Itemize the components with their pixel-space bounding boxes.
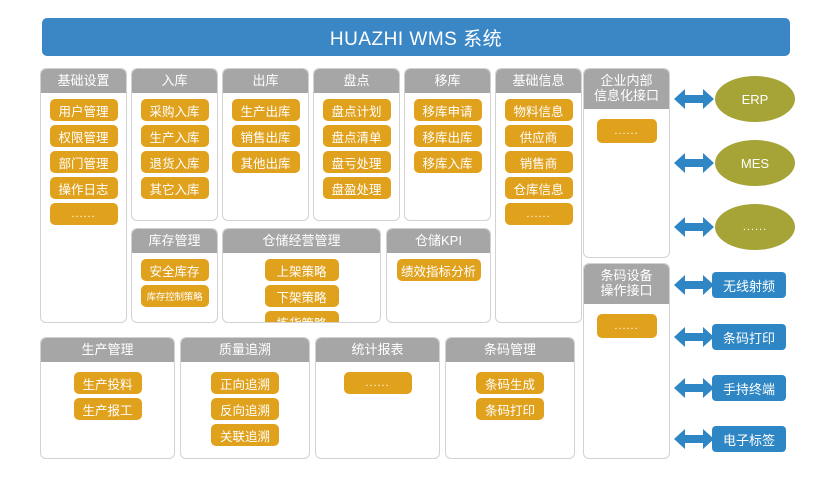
card-title: 库存管理: [148, 234, 200, 249]
menu-item[interactable]: 其他出库: [232, 151, 300, 173]
card-body: 上架策略 下架策略 拣货策略 批次管理: [223, 253, 380, 323]
menu-item[interactable]: 生产报工: [74, 398, 142, 420]
card-title: 条码管理: [484, 343, 536, 358]
interface-card-enterprise-it[interactable]: 企业内部 信息化接口 ......: [583, 68, 670, 258]
card-title-line1: 条码设备: [600, 269, 652, 284]
card-header: 统计报表: [316, 338, 439, 362]
card-body: 物料信息 供应商 销售商 仓库信息 ......: [496, 93, 581, 225]
module-card-inbound[interactable]: 入库 采购入库 生产入库 退货入库 其它入库: [131, 68, 218, 221]
card-body: 采购入库 生产入库 退货入库 其它入库: [132, 93, 217, 199]
endpoint-handheld-terminal[interactable]: 手持终端: [712, 375, 786, 401]
double-arrow-icon: [674, 88, 714, 115]
endpoint-rfid[interactable]: 无线射频: [712, 272, 786, 298]
interface-card-barcode-device[interactable]: 条码设备 操作接口 ......: [583, 263, 670, 459]
card-body: 正向追溯 反向追溯 关联追溯: [181, 362, 309, 446]
card-title-line1: 企业内部: [600, 74, 652, 89]
double-arrow-icon: [674, 326, 714, 353]
card-title-line2: 信息化接口: [594, 89, 659, 104]
module-card-warehouse-operations[interactable]: 仓储经营管理 上架策略 下架策略 拣货策略 批次管理: [222, 228, 381, 323]
menu-item[interactable]: 供应商: [505, 125, 573, 147]
card-body: 用户管理 权限管理 部门管理 操作日志 ......: [41, 93, 126, 225]
menu-item[interactable]: 移库出库: [414, 125, 482, 147]
module-card-transfer[interactable]: 移库 移库申请 移库出库 移库入库: [404, 68, 491, 221]
endpoint-label: ......: [743, 221, 767, 233]
module-card-basic-info[interactable]: 基础信息 物料信息 供应商 销售商 仓库信息 ......: [495, 68, 582, 323]
double-arrow-icon: [674, 152, 714, 179]
card-header: 基础信息: [496, 69, 581, 93]
module-card-inventory-management[interactable]: 库存管理 安全库存 库存控制策略: [131, 228, 218, 323]
menu-item[interactable]: 用户管理: [50, 99, 118, 121]
endpoint-label: 条码打印: [723, 328, 775, 347]
menu-item[interactable]: 拣货策略: [265, 311, 339, 323]
endpoint-electronic-label[interactable]: 电子标签: [712, 426, 786, 452]
endpoint-label: 电子标签: [723, 430, 775, 449]
menu-item[interactable]: 条码生成: [476, 372, 544, 394]
menu-item-more[interactable]: ......: [344, 372, 412, 394]
menu-item[interactable]: 盘盈处理: [323, 177, 391, 199]
menu-item[interactable]: 盘点计划: [323, 99, 391, 121]
card-body: 移库申请 移库出库 移库入库: [405, 93, 490, 173]
card-title: 生产管理: [81, 343, 133, 358]
endpoint-erp[interactable]: ERP: [715, 76, 795, 122]
card-header: 移库: [405, 69, 490, 93]
card-header: 出库: [223, 69, 308, 93]
endpoint-label: 手持终端: [723, 379, 775, 398]
module-card-statistical-reports[interactable]: 统计报表 ......: [315, 337, 440, 459]
card-body: 安全库存 库存控制策略: [132, 253, 217, 307]
endpoint-label: MES: [741, 156, 769, 171]
card-title: 仓储KPI: [415, 234, 462, 249]
menu-item[interactable]: 销售出库: [232, 125, 300, 147]
menu-item[interactable]: 关联追溯: [211, 424, 279, 446]
card-body: ......: [316, 362, 439, 394]
menu-item[interactable]: 库存控制策略: [141, 285, 209, 307]
wms-architecture-diagram: HUAZHI WMS 系统 基础设置 用户管理 权限管理 部门管理 操作日志 .…: [0, 0, 826, 479]
module-card-stocktaking[interactable]: 盘点 盘点计划 盘点清单 盘亏处理 盘盈处理: [313, 68, 400, 221]
double-arrow-icon: [674, 377, 714, 404]
endpoint-barcode-printing[interactable]: 条码打印: [712, 324, 786, 350]
card-title: 盘点: [343, 74, 369, 89]
card-header: 生产管理: [41, 338, 174, 362]
card-body: 盘点计划 盘点清单 盘亏处理 盘盈处理: [314, 93, 399, 199]
module-card-warehouse-kpi[interactable]: 仓储KPI 绩效指标分析: [386, 228, 491, 323]
endpoint-label: 无线射频: [723, 276, 775, 295]
card-title: 基础信息: [512, 74, 564, 89]
card-title: 仓储经营管理: [262, 234, 340, 249]
menu-item[interactable]: 采购入库: [141, 99, 209, 121]
system-title-banner: HUAZHI WMS 系统: [42, 18, 790, 56]
menu-item[interactable]: 其它入库: [141, 177, 209, 199]
card-title-line2: 操作接口: [600, 284, 652, 299]
menu-item[interactable]: 正向追溯: [211, 372, 279, 394]
menu-item[interactable]: 盘点清单: [323, 125, 391, 147]
card-header: 仓储经营管理: [223, 229, 380, 253]
module-card-quality-traceability[interactable]: 质量追溯 正向追溯 反向追溯 关联追溯: [180, 337, 310, 459]
endpoint-label: ERP: [742, 92, 769, 107]
endpoint-more[interactable]: ......: [715, 204, 795, 250]
card-title: 基础设置: [57, 74, 109, 89]
menu-item[interactable]: 物料信息: [505, 99, 573, 121]
menu-item[interactable]: 生产入库: [141, 125, 209, 147]
module-card-basic-settings[interactable]: 基础设置 用户管理 权限管理 部门管理 操作日志 ......: [40, 68, 127, 323]
card-header: 质量追溯: [181, 338, 309, 362]
card-body: 绩效指标分析: [387, 253, 490, 281]
double-arrow-icon: [674, 428, 714, 455]
card-header: 条码设备 操作接口: [584, 264, 669, 304]
card-header: 入库: [132, 69, 217, 93]
card-header: 条码管理: [446, 338, 574, 362]
card-header: 企业内部 信息化接口: [584, 69, 669, 109]
menu-item[interactable]: 上架策略: [265, 259, 339, 281]
double-arrow-icon: [674, 216, 714, 243]
menu-item[interactable]: 销售商: [505, 151, 573, 173]
card-body: 生产投料 生产报工: [41, 362, 174, 420]
card-header: 基础设置: [41, 69, 126, 93]
module-card-barcode-management[interactable]: 条码管理 条码生成 条码打印: [445, 337, 575, 459]
card-title: 移库: [434, 74, 460, 89]
menu-item[interactable]: 生产投料: [74, 372, 142, 394]
menu-item[interactable]: 条码打印: [476, 398, 544, 420]
card-title: 质量追溯: [219, 343, 271, 358]
menu-item[interactable]: 安全库存: [141, 259, 209, 281]
module-card-production-management[interactable]: 生产管理 生产投料 生产报工: [40, 337, 175, 459]
menu-item[interactable]: 部门管理: [50, 151, 118, 173]
page-title: HUAZHI WMS 系统: [330, 24, 502, 51]
menu-item-more[interactable]: ......: [597, 314, 657, 338]
module-card-outbound[interactable]: 出库 生产出库 销售出库 其他出库: [222, 68, 309, 221]
menu-item[interactable]: 下架策略: [265, 285, 339, 307]
menu-item[interactable]: 反向追溯: [211, 398, 279, 420]
card-title: 入库: [161, 74, 187, 89]
card-header: 仓储KPI: [387, 229, 490, 253]
double-arrow-icon: [674, 274, 714, 301]
card-header: 库存管理: [132, 229, 217, 253]
menu-item[interactable]: 仓库信息: [505, 177, 573, 199]
card-body: ......: [584, 304, 669, 338]
card-body: 生产出库 销售出库 其他出库: [223, 93, 308, 173]
menu-item-more[interactable]: ......: [505, 203, 573, 225]
menu-item-more[interactable]: ......: [597, 119, 657, 143]
card-body: 条码生成 条码打印: [446, 362, 574, 420]
menu-item[interactable]: 盘亏处理: [323, 151, 391, 173]
menu-item[interactable]: 权限管理: [50, 125, 118, 147]
menu-item[interactable]: 生产出库: [232, 99, 300, 121]
card-body: ......: [584, 109, 669, 143]
menu-item[interactable]: 操作日志: [50, 177, 118, 199]
card-title: 出库: [252, 74, 278, 89]
menu-item[interactable]: 绩效指标分析: [397, 259, 481, 281]
menu-item-more[interactable]: ......: [50, 203, 118, 225]
menu-item[interactable]: 退货入库: [141, 151, 209, 173]
card-title: 统计报表: [351, 343, 403, 358]
card-header: 盘点: [314, 69, 399, 93]
endpoint-mes[interactable]: MES: [715, 140, 795, 186]
menu-item[interactable]: 移库申请: [414, 99, 482, 121]
menu-item[interactable]: 移库入库: [414, 151, 482, 173]
